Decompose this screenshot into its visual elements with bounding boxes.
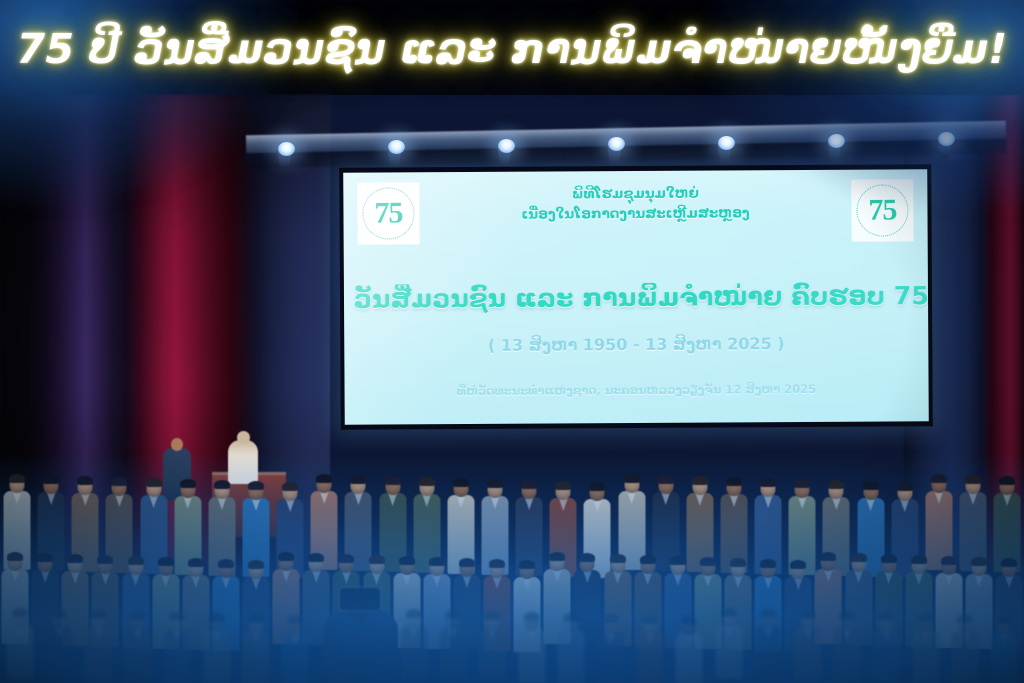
person-hair [521,480,537,489]
person-hair [180,479,196,488]
person-hair [863,481,879,490]
person-in-group-photo [197,613,236,683]
person-in-group-photo [985,615,1024,683]
person-in-group-photo [433,610,472,681]
person-in-group-photo [670,616,709,683]
person-hair [603,614,619,623]
person-hair [218,559,234,568]
person-in-group-photo [276,615,315,683]
person-in-group-photo [748,609,787,680]
person-in-group-photo [158,612,197,683]
person-hair [726,477,742,486]
person-hair [881,554,897,563]
person-in-group-photo [0,608,39,679]
person-hair [248,560,264,569]
person-hair [839,611,855,620]
person-hair [248,614,264,623]
screen-venue-line: ທີ່ຫໍວັດທະນະທຳແຫ່ງຊາດ, ນະຄອນຫລວງວຽງຈັນ 1… [345,381,929,399]
person-hair [188,558,204,567]
person-hair [931,474,947,483]
person-in-group-photo [709,608,748,679]
person-hair [67,554,83,563]
person-hair [760,559,776,568]
person-hair [97,555,113,564]
person-hair [999,476,1015,485]
person-hair [77,476,93,485]
person-in-group-photo [39,609,78,680]
person-hair [459,558,475,567]
person-hair [965,475,981,484]
person-hair [760,478,776,487]
person-hair [658,475,674,484]
person-hair [130,611,146,620]
person-hair [996,615,1012,624]
person-hair [941,556,957,565]
person-hair [369,555,385,564]
person-hair [338,554,354,563]
corner-glow-right [704,0,1024,210]
person-hair [316,474,332,483]
person-hair [794,479,810,488]
person-in-group-photo [945,614,984,683]
person-hair [897,482,913,491]
person-hair [721,608,737,617]
person-hair [146,478,162,487]
person-in-group-photo [79,610,118,681]
person-hair [399,556,415,565]
person-hair [111,477,127,486]
person-hair [209,613,225,622]
person-hair [484,611,500,620]
person-hair [828,480,844,489]
person-hair [128,556,144,565]
person-hair [730,558,746,567]
person-hair [406,609,422,618]
person-in-group-photo [906,613,945,683]
person-hair [214,480,230,489]
person-hair [282,482,298,491]
person-hair [790,560,806,569]
person-in-group-photo [591,614,630,683]
person-hair [760,609,776,618]
person-hair [563,613,579,622]
person-hair [51,609,67,618]
person-hair [9,474,25,483]
person-hair [278,552,294,561]
person-hair [350,475,366,484]
person-hair [670,556,686,565]
person-hair [419,477,435,486]
camera-icon [340,588,380,610]
person-hair [169,612,185,621]
person-hair [878,612,894,621]
person-hair [579,553,595,562]
person-hair [7,552,23,561]
person-hair [692,476,708,485]
person-hair [308,553,324,562]
person-hair [642,615,658,624]
photographer-body [324,612,398,683]
person-hair [918,613,934,622]
person-hair [453,478,469,487]
person-in-group-photo [867,612,906,683]
person-hair [519,560,535,569]
person-in-group-photo [473,611,512,682]
person-hair [385,476,401,485]
person-hair [524,612,540,621]
person-in-group-photo [788,610,827,681]
person-hair [43,475,59,484]
corner-glow-left [0,0,300,210]
person-hair [555,481,571,490]
person-hair [248,481,264,490]
person-hair [911,555,927,564]
person-hair [640,555,656,564]
photographer-with-camera [318,588,404,683]
person-in-group-photo [827,611,866,682]
person-hair [971,557,987,566]
person-in-group-photo [630,615,669,683]
spotlight-icon [498,139,515,153]
person-in-group-photo [236,614,275,683]
person-in-group-photo [118,611,157,682]
person-hair [1001,558,1017,567]
person-hair [549,552,565,561]
person-in-group-photo [512,612,551,683]
person-hair [287,615,303,624]
audience-seated-row [0,612,1024,683]
person-hair [589,482,605,491]
person-hair [90,610,106,619]
event-photo-canvas: 75 75 ພິທີໂຮມຊຸມນຸມໃຫຍ່ ເນື່ອງໃນໂອກາດງານ… [0,0,1024,683]
person-hair [624,474,640,483]
person-in-group-photo [551,613,590,683]
person-hair [429,557,445,566]
person-hair [158,557,174,566]
person-hair [610,554,626,563]
person-hair [681,616,697,625]
person-hair [12,608,28,617]
person-hair [851,553,867,562]
person-hair [800,610,816,619]
person-hair [487,479,503,488]
person-hair [957,614,973,623]
screen-date-range: ( 13 ສິງຫາ 1950 - 13 ສິງຫາ 2025 ) [344,333,928,356]
screen-main-title: ວັນສື່ມວນຊົນ ແລະ ການພິມຈຳໜ່າຍ ຄົບຮອບ 75 … [343,281,929,314]
person-hair [37,553,53,562]
person-hair [820,552,836,561]
person-hair [700,557,716,566]
person-hair [445,610,461,619]
person-hair [489,559,505,568]
